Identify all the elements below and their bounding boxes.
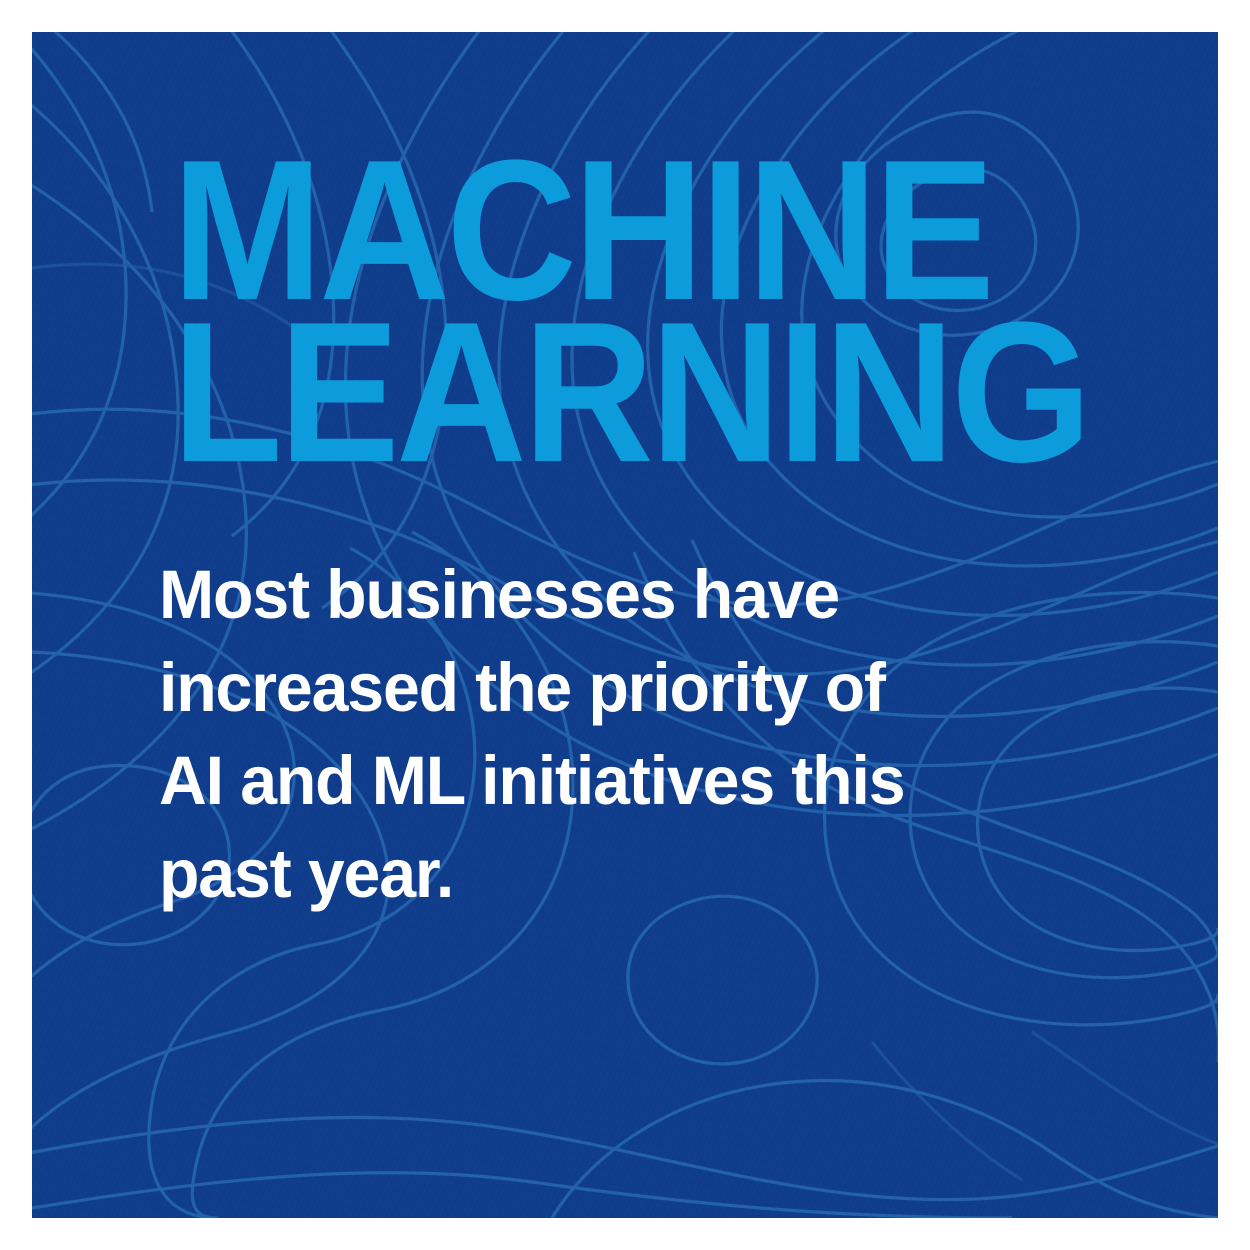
card-content: MACHINE LEARNING Most businesses have in… bbox=[32, 32, 1218, 1218]
info-card: MACHINE LEARNING Most businesses have in… bbox=[32, 32, 1218, 1218]
body-line-3: AI and ML initiatives this bbox=[159, 734, 1129, 827]
headline-line-2: LEARNING bbox=[172, 312, 1077, 474]
body-line-1: Most businesses have bbox=[159, 548, 1129, 641]
body-line-4: past year. bbox=[159, 827, 1129, 920]
body-paragraph: Most businesses have increased the prior… bbox=[159, 548, 1169, 920]
body-line-2: increased the priority of bbox=[159, 641, 1129, 734]
page-title: MACHINE LEARNING bbox=[172, 150, 1172, 474]
